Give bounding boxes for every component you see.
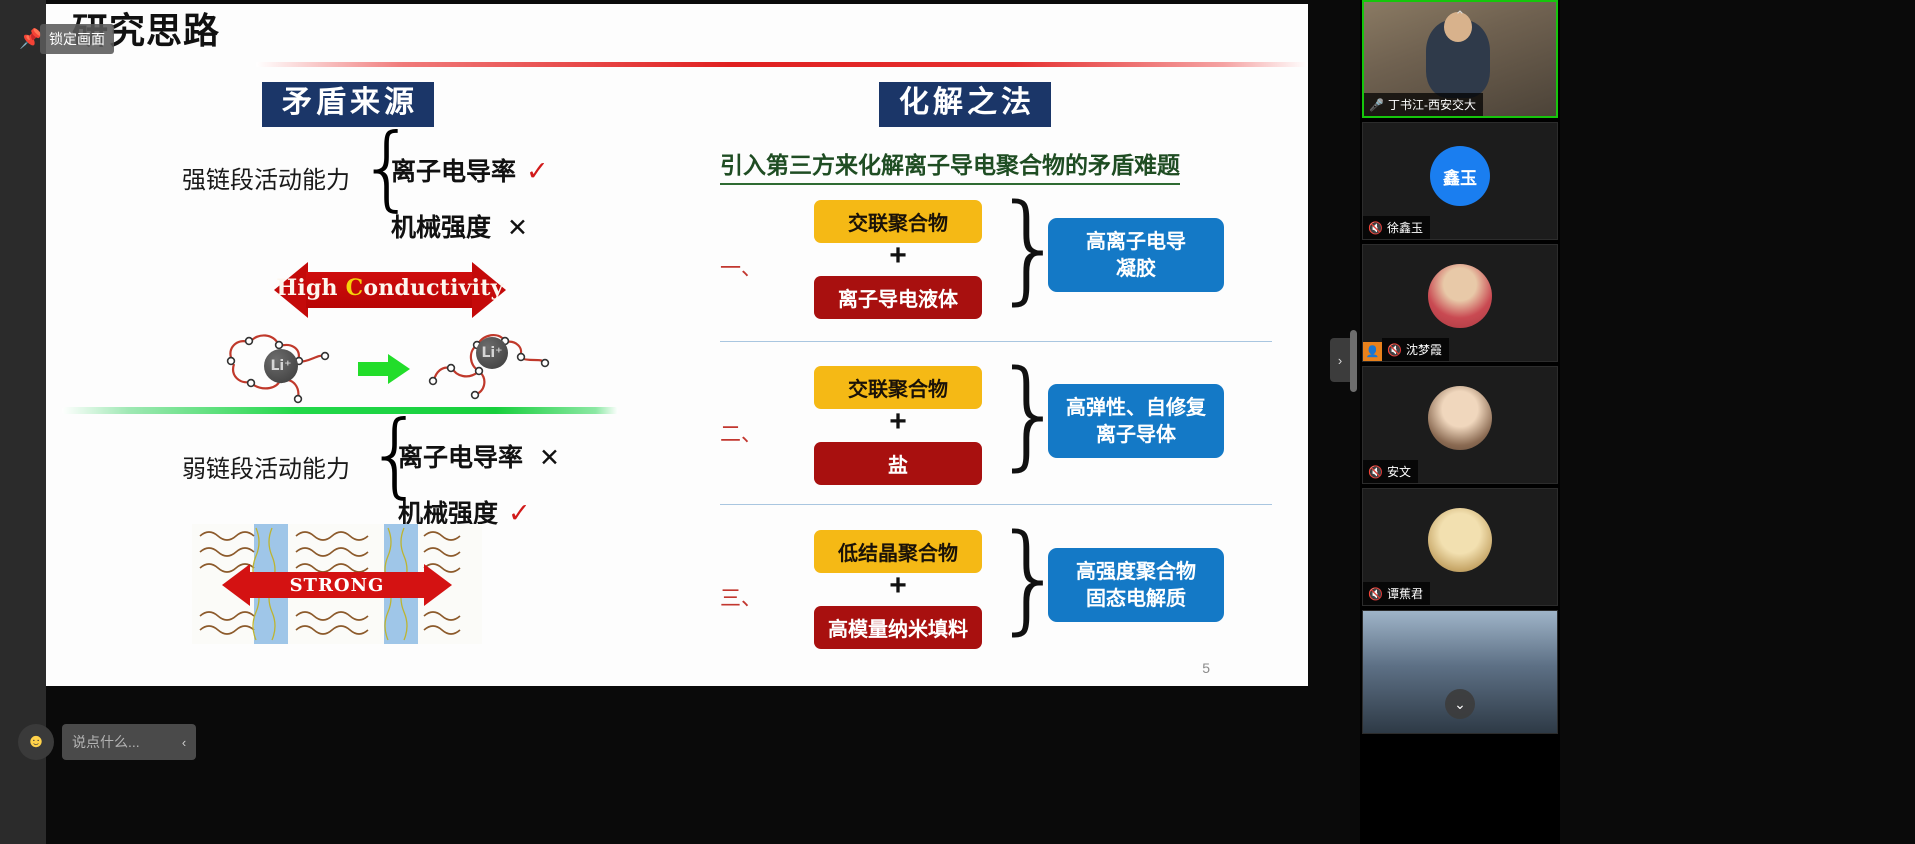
strong-prop-1: 离子电导率✓ bbox=[391, 152, 549, 188]
row-1-bottom-box: 离子导电液体 bbox=[814, 276, 982, 319]
avatar: 鑫玉 bbox=[1430, 146, 1490, 206]
row-1-number: 一、 bbox=[720, 252, 762, 282]
lithium-ion-right: Li⁺ bbox=[476, 337, 508, 369]
row-2-result-line1: 高弹性、自修复 bbox=[1066, 394, 1206, 421]
mic-muted-icon-3: 🔇 bbox=[1368, 465, 1383, 479]
strong-material-illustration: STRONG bbox=[192, 524, 482, 644]
participant-tile-5[interactable]: ⌄ bbox=[1362, 610, 1558, 734]
row-1-plus: + bbox=[814, 239, 982, 273]
chat-bar: ☻ 说点什么... ‹ bbox=[18, 724, 196, 760]
avatar bbox=[1428, 386, 1492, 450]
participant-tile-3[interactable]: 🔇 安文 bbox=[1362, 366, 1558, 484]
chevron-left-icon[interactable]: ‹ bbox=[172, 724, 196, 760]
participant-tile-0[interactable]: ⌃ 🎤 丁书江-西安交大 bbox=[1362, 0, 1558, 118]
weak-prop-1-mark: ✕ bbox=[539, 443, 560, 472]
row-3-number: 三、 bbox=[720, 582, 762, 612]
participant-tile-1[interactable]: 鑫玉 🔇 徐鑫玉 bbox=[1362, 122, 1558, 240]
row-separator-2 bbox=[720, 504, 1272, 505]
pin-tooltip: 锁定画面 bbox=[40, 24, 114, 54]
solution-row-2: 二、 交联聚合物 + 盐 } 高弹性、自修复 离子导体 bbox=[720, 360, 1280, 510]
participant-name-0: 🎤 丁书江-西安交大 bbox=[1364, 93, 1483, 116]
slide-page-number: 5 bbox=[1202, 660, 1210, 676]
section-divider-green bbox=[62, 407, 618, 414]
mic-icon-0: 🎤 bbox=[1369, 98, 1384, 112]
weak-prop-1-text: 离子电导率 bbox=[398, 443, 523, 472]
strong-arrow-label: STRONG bbox=[222, 575, 452, 596]
meeting-window: 📌 锁定画面 研究思路 矛盾来源 化解之法 强链段活动能力 { 离子电导率✓ 机… bbox=[0, 0, 1915, 844]
row-2-plus: + bbox=[814, 405, 982, 439]
row-3-result-box: 高强度聚合物 固态电解质 bbox=[1048, 548, 1224, 622]
participant-tile-4[interactable]: 🔇 谭蕉君 bbox=[1362, 488, 1558, 606]
chat-input[interactable]: 说点什么... bbox=[62, 724, 172, 760]
participant-name-4: 🔇 谭蕉君 bbox=[1363, 582, 1430, 605]
mic-muted-icon-4: 🔇 bbox=[1368, 587, 1383, 601]
solution-row-3: 三、 低结晶聚合物 + 高模量纳米填料 } 高强度聚合物 固态电解质 bbox=[720, 524, 1280, 674]
row-3-plus: + bbox=[814, 569, 982, 603]
strong-prop-1-text: 离子电导率 bbox=[391, 157, 516, 186]
solution-row-1: 一、 交联聚合物 + 离子导电液体 } 高离子电导 凝胶 bbox=[720, 194, 1280, 344]
strong-arrow: STRONG bbox=[222, 564, 452, 606]
shared-screen-slide: 研究思路 矛盾来源 化解之法 强链段活动能力 { 离子电导率✓ 机械强度✕ Hi… bbox=[46, 4, 1308, 686]
high-conductivity-label: High Conductivity bbox=[274, 275, 506, 301]
weak-prop-2-mark: ✓ bbox=[508, 498, 531, 529]
participant-name-3: 🔇 安文 bbox=[1363, 460, 1418, 483]
mic-muted-icon-1: 🔇 bbox=[1368, 221, 1383, 235]
row-1-result-box: 高离子电导 凝胶 bbox=[1048, 218, 1224, 292]
high-conductivity-arrow: High Conductivity bbox=[274, 262, 506, 318]
weak-prop-1: 离子电导率✕ bbox=[398, 438, 560, 474]
avatar bbox=[1428, 508, 1492, 572]
row-separator-1 bbox=[720, 341, 1272, 342]
right-subtitle: 引入第三方来化解离子导电聚合物的矛盾难题 bbox=[720, 146, 1180, 185]
strong-prop-1-mark: ✓ bbox=[526, 156, 549, 187]
row-2-number: 二、 bbox=[720, 418, 762, 448]
strong-segment-label: 强链段活动能力 bbox=[110, 160, 350, 195]
row-1-top-box: 交联聚合物 bbox=[814, 200, 982, 243]
row-3-top-box: 低结晶聚合物 bbox=[814, 530, 982, 573]
row-3-result-line2: 固态电解质 bbox=[1086, 585, 1186, 612]
row-1-result-line2: 凝胶 bbox=[1116, 255, 1156, 282]
row-1-result-line1: 高离子电导 bbox=[1086, 228, 1186, 255]
row-2-result-line2: 离子导体 bbox=[1096, 421, 1176, 448]
strong-prop-2: 机械强度✕ bbox=[391, 208, 528, 244]
title-divider bbox=[256, 62, 1308, 67]
row-2-result-box: 高弹性、自修复 离子导体 bbox=[1048, 384, 1224, 458]
participant-tile-2[interactable]: 👤 🔇 沈梦霞 bbox=[1362, 244, 1558, 362]
chevron-right-icon[interactable]: › bbox=[1330, 338, 1350, 382]
right-section-header: 化解之法 bbox=[879, 82, 1051, 127]
mic-muted-icon-2: 🔇 bbox=[1387, 343, 1402, 357]
row-3-bottom-box: 高模量纳米填料 bbox=[814, 606, 982, 649]
avatar bbox=[1428, 264, 1492, 328]
participant-name-1: 🔇 徐鑫玉 bbox=[1363, 216, 1430, 239]
host-badge: 👤 bbox=[1363, 342, 1382, 361]
panel-scrollbar[interactable] bbox=[1350, 330, 1357, 392]
chevron-up-icon[interactable]: ⌃ bbox=[1455, 8, 1466, 24]
transition-arrow-icon bbox=[358, 354, 410, 384]
strong-prop-2-mark: ✕ bbox=[507, 213, 528, 242]
participant-strip: ⌃ 🎤 丁书江-西安交大 鑫玉 🔇 徐鑫玉 👤 🔇 沈梦霞 bbox=[1360, 0, 1560, 844]
row-3-result-line1: 高强度聚合物 bbox=[1076, 558, 1196, 585]
participant-name-2: 🔇 沈梦霞 bbox=[1382, 338, 1449, 361]
row-2-bottom-box: 盐 bbox=[814, 442, 982, 485]
emoji-icon[interactable]: ☻ bbox=[18, 724, 54, 760]
chevron-down-icon[interactable]: ⌄ bbox=[1445, 689, 1475, 719]
lithium-ion-left: Li⁺ bbox=[264, 349, 298, 383]
strong-prop-2-text: 机械强度 bbox=[391, 213, 491, 242]
row-2-top-box: 交联聚合物 bbox=[814, 366, 982, 409]
left-toolbar-rail bbox=[0, 0, 46, 844]
weak-segment-label: 弱链段活动能力 bbox=[110, 449, 350, 484]
